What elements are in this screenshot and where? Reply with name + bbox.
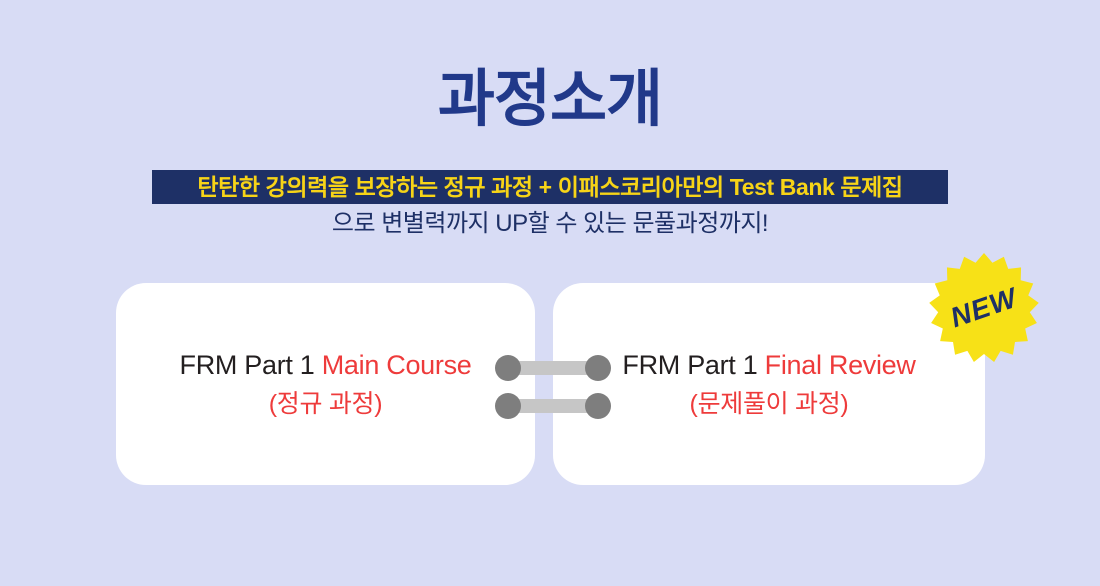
card-connector-top <box>495 355 611 381</box>
connector-knob-right-icon <box>585 393 611 419</box>
course-subtitle: (문제풀이 과정) <box>690 387 849 421</box>
course-title-accent: Final Review <box>765 350 916 380</box>
course-intro-banner: 과정소개 탄탄한 강의력을 보장하는 정규 과정 + 이패스코리아만의 Test… <box>0 0 1100 586</box>
subtitle-text: 으로 변별력까지 UP할 수 있는 문풀과정까지! <box>0 208 1100 240</box>
course-title: FRM Part 1 Main Course <box>180 347 472 383</box>
connector-knob-left-icon <box>495 355 521 381</box>
course-title: FRM Part 1 Final Review <box>622 347 915 383</box>
card-connector-bottom <box>495 393 611 419</box>
course-card-final-review[interactable]: FRM Part 1 Final Review (문제풀이 과정) <box>553 283 985 485</box>
course-title-accent: Main Course <box>322 350 472 380</box>
page-title: 과정소개 <box>0 64 1100 136</box>
course-subtitle: (정규 과정) <box>269 387 383 421</box>
course-title-prefix: FRM Part 1 <box>180 350 322 380</box>
course-card-main-course[interactable]: FRM Part 1 Main Course (정규 과정) <box>116 283 535 485</box>
new-badge: NEW <box>928 252 1040 364</box>
connector-knob-left-icon <box>495 393 521 419</box>
highlight-banner: 탄탄한 강의력을 보장하는 정규 과정 + 이패스코리아만의 Test Bank… <box>152 170 948 204</box>
highlight-banner-text: 탄탄한 강의력을 보장하는 정규 과정 + 이패스코리아만의 Test Bank… <box>197 176 902 199</box>
course-title-prefix: FRM Part 1 <box>622 350 764 380</box>
connector-knob-right-icon <box>585 355 611 381</box>
